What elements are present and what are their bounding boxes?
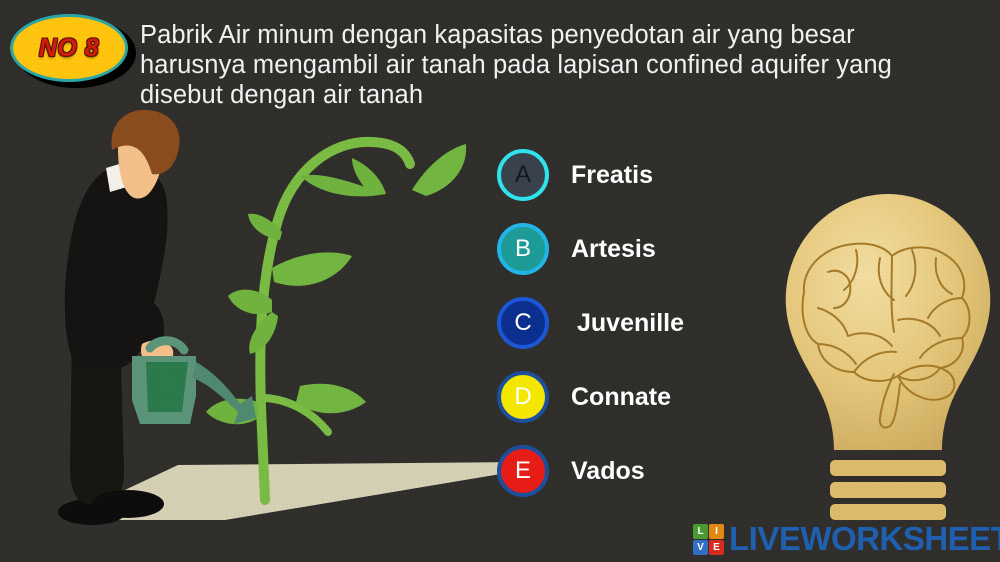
- question-line-3: disebut dengan air tanah: [140, 80, 985, 110]
- bulb-base-ring-2: [830, 482, 946, 498]
- answer-option-e[interactable]: E Vados: [497, 434, 684, 508]
- bulb-base-ring-3: [830, 504, 946, 520]
- logo-letter-squares: L I V E: [693, 524, 724, 555]
- answer-option-d[interactable]: D Connate: [497, 360, 684, 434]
- option-letter-a: A: [515, 161, 531, 189]
- badge-ellipse: NO 8: [10, 14, 128, 82]
- plant-leaf-top-right: [412, 144, 466, 196]
- option-bubble-d[interactable]: D: [497, 371, 549, 423]
- ground-shape: [108, 462, 525, 520]
- logo-square-e: E: [709, 540, 724, 555]
- option-letter-e: E: [515, 457, 531, 485]
- option-label-e: Vados: [571, 457, 645, 486]
- quiz-slide: NO 8 Pabrik Air minum dengan kapasitas p…: [0, 0, 1000, 562]
- watering-can-panel: [146, 362, 188, 412]
- badge-label: NO 8: [39, 34, 99, 63]
- logo-square-l: L: [693, 524, 708, 539]
- option-bubble-a[interactable]: A: [497, 149, 549, 201]
- logo-square-i: I: [709, 524, 724, 539]
- man-figure: [58, 110, 180, 525]
- logo-square-v-letter: V: [697, 542, 704, 553]
- option-label-b: Artesis: [571, 235, 656, 264]
- lightbulb-brain-icon: [772, 188, 1000, 520]
- question-number-badge: NO 8: [8, 12, 136, 88]
- plant: [206, 142, 466, 500]
- option-label-c: Juvenille: [577, 309, 684, 338]
- answer-option-a[interactable]: A Freatis: [497, 138, 684, 212]
- option-label-d: Connate: [571, 383, 671, 412]
- option-label-a: Freatis: [571, 161, 653, 190]
- logo-square-v: V: [693, 540, 708, 555]
- bulb-base-ring-1: [830, 460, 946, 476]
- logo-square-l-letter: L: [697, 526, 703, 537]
- man-shoe-front: [92, 490, 164, 518]
- answer-options-list: A Freatis B Artesis C Juvenille D Connat…: [497, 138, 684, 508]
- answer-option-c[interactable]: C Juvenille: [497, 286, 684, 360]
- option-letter-d: D: [514, 383, 531, 411]
- liveworksheets-logo[interactable]: L I V E LIVEWORKSHEETS: [693, 520, 1000, 558]
- question-line-2: harusnya mengambil air tanah pada lapisa…: [140, 50, 985, 80]
- bulb-glass: [786, 194, 991, 450]
- plant-stem: [260, 142, 410, 500]
- option-letter-c: C: [514, 309, 531, 337]
- answer-option-b[interactable]: B Artesis: [497, 212, 684, 286]
- question-line-1: Pabrik Air minum dengan kapasitas penyed…: [140, 20, 985, 50]
- logo-wordmark: LIVEWORKSHEETS: [729, 520, 1000, 558]
- plant-leaf-right-mid: [272, 252, 352, 285]
- option-bubble-b[interactable]: B: [497, 223, 549, 275]
- option-bubble-c[interactable]: C: [497, 297, 549, 349]
- logo-square-i-letter: I: [715, 526, 718, 537]
- question-text: Pabrik Air minum dengan kapasitas penyed…: [140, 20, 985, 110]
- logo-square-e-letter: E: [713, 542, 720, 553]
- option-letter-b: B: [515, 235, 531, 263]
- option-bubble-e[interactable]: E: [497, 445, 549, 497]
